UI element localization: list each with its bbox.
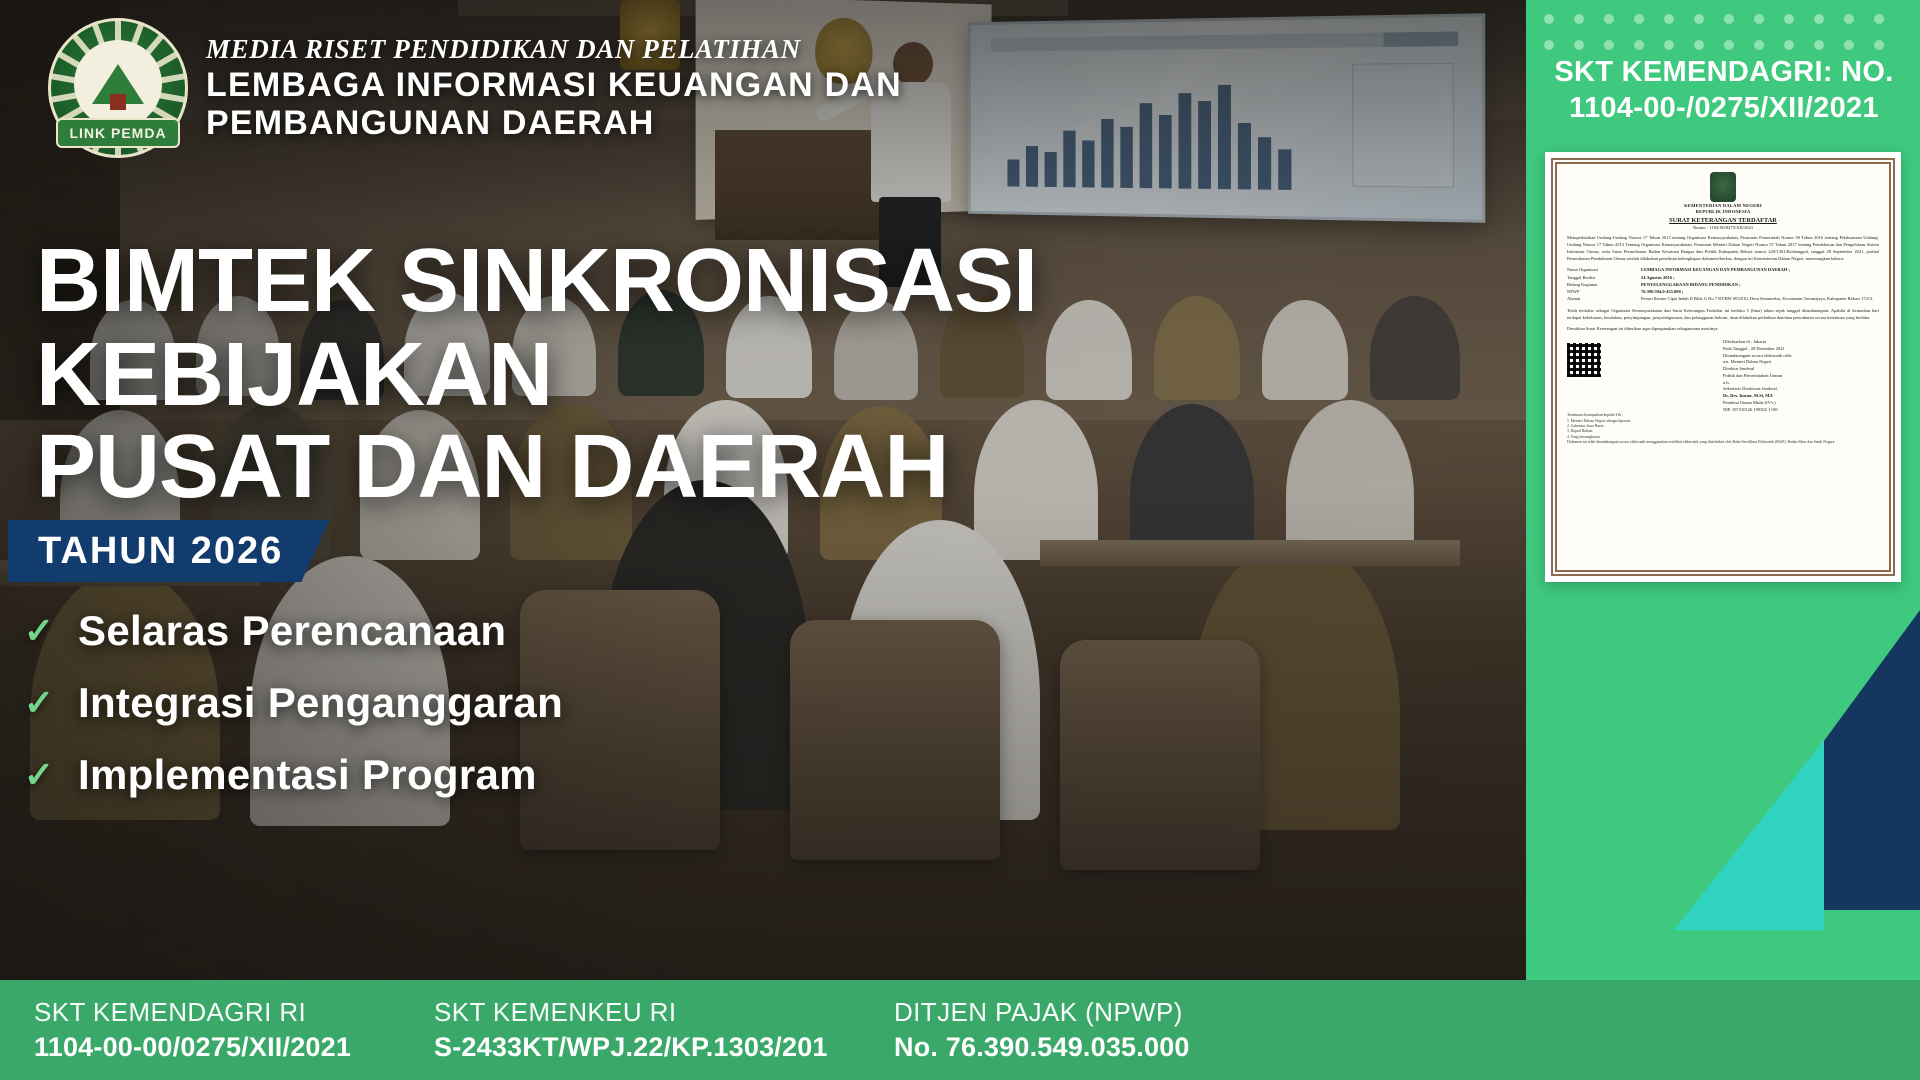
- signature-role-2: Politik dan Pemerintahan Umum: [1723, 373, 1879, 380]
- side-panel-title: SKT KEMENDAGRI: NO. 1104-00-/0275/XII/20…: [1546, 54, 1902, 127]
- organization-logo: LINK PEMDA: [48, 18, 188, 158]
- garuda-emblem-icon: [1710, 172, 1736, 202]
- qr-code: [1567, 343, 1601, 377]
- table-row: Nama Organisasi LEMBAGA INFORMASI KEUANG…: [1567, 267, 1879, 274]
- list-item-label: Implementasi Program: [78, 751, 537, 799]
- check-icon: ✓: [22, 754, 56, 796]
- signature-date-label: Pada Tanggal: [1723, 346, 1747, 351]
- certificate-disclaimer: Dokumen ini telah ditandatangani secara …: [1567, 440, 1879, 445]
- side-panel-title-line2: 1104-00-/0275/XII/2021: [1546, 90, 1902, 126]
- organization-name-block: MEDIA RISET PENDIDIKAN DAN PELATIHAN LEM…: [206, 34, 902, 142]
- poster: LINK PEMDA MEDIA RISET PENDIDIKAN DAN PE…: [0, 0, 1920, 1080]
- signature-role-1: Direktur Jenderal: [1723, 366, 1879, 373]
- check-icon: ✓: [22, 682, 56, 724]
- list-item: ✓ Selaras Perencanaan: [22, 604, 563, 658]
- credential-label: SKT KEMENDAGRI RI: [34, 997, 400, 1028]
- year-badge: TAHUN 2026: [8, 520, 329, 582]
- certificate-number: Nomor : 1104-00/0275/XII/2021: [1567, 225, 1879, 230]
- list-item: ✓ Integrasi Penganggaran: [22, 676, 563, 730]
- signature-place: Dikeluarkan di : Jakarta: [1723, 339, 1879, 346]
- certificate-title: SURAT KETERANGAN TERDAFTAR: [1567, 217, 1879, 224]
- table-row: Alamat Perum Rosine Cipta Indah II Blok …: [1567, 296, 1879, 303]
- headline-line-1: BIMTEK SINKRONISASI: [36, 236, 1116, 328]
- certificate-image: KEMENTERIAN DALAM NEGERI REPUBLIK INDONE…: [1545, 152, 1901, 582]
- credential-value: 1104-00-00/0275/XII/2021: [34, 1032, 400, 1063]
- certificate-footnote: Tembusan disampaikan kepada Yth : 1. Men…: [1567, 413, 1879, 445]
- credential-value: No. 76.390.549.035.000: [894, 1032, 1420, 1063]
- field-key: NPWP: [1567, 289, 1641, 296]
- field-key: Bidang Kegiatan: [1567, 282, 1641, 289]
- signature-name: Dr. Drs. Imran, M.Si, MA: [1723, 393, 1879, 400]
- certificate-ministry-line2: REPUBLIK INDONESIA: [1567, 209, 1879, 215]
- field-key: Nama Organisasi: [1567, 267, 1641, 274]
- signature-role-3: Sekretaris Direktorat Jenderal,: [1723, 386, 1879, 393]
- list-item-label: Integrasi Penganggaran: [78, 679, 563, 727]
- field-value: 24 Agustus 2016 ;: [1641, 275, 1879, 282]
- credential-kemendagri: SKT KEMENDAGRI RI 1104-00-00/0275/XII/20…: [0, 997, 400, 1063]
- side-panel-title-line1: SKT KEMENDAGRI: NO.: [1546, 54, 1902, 90]
- decorative-teal-triangle: [1674, 740, 1824, 930]
- brand-block: LINK PEMDA MEDIA RISET PENDIDIKAN DAN PE…: [48, 18, 902, 158]
- field-key: Tanggal Berdiri: [1567, 275, 1641, 282]
- certificate-fields-table: Nama Organisasi LEMBAGA INFORMASI KEUANG…: [1567, 267, 1879, 302]
- credential-label: SKT KEMENKEU RI: [434, 997, 860, 1028]
- signature-place-label: Dikeluarkan di: [1723, 339, 1750, 344]
- side-panel-bottom-strip: [1526, 980, 1920, 1080]
- credentials-footer: SKT KEMENDAGRI RI 1104-00-00/0275/XII/20…: [0, 980, 1526, 1080]
- poster-headline: BIMTEK SINKRONISASI KEBIJAKAN PUSAT DAN …: [36, 236, 1116, 513]
- table-row: NPWP 76.390.594.0-435.000 ;: [1567, 289, 1879, 296]
- signature-note: Ditandatangani secara elektronik oleh:: [1723, 353, 1879, 360]
- field-key: Alamat: [1567, 296, 1641, 303]
- signature-nip: NIP. 197310126 199302 1 001: [1723, 407, 1879, 414]
- field-value: PENYELENGGARAAN BIDANG PENDIDIKAN ;: [1641, 282, 1879, 289]
- organization-name-line2: PEMBANGUNAN DAERAH: [206, 105, 902, 142]
- benefits-list: ✓ Selaras Perencanaan ✓ Integrasi Pengan…: [22, 604, 563, 820]
- signature-on-behalf: a.n. Menteri Dalam Negeri: [1723, 359, 1879, 366]
- signature-date-value: : 20 Desember 2021: [1748, 346, 1784, 351]
- certificate-frame: KEMENTERIAN DALAM NEGERI REPUBLIK INDONE…: [1551, 158, 1895, 576]
- signature-right-column: Dikeluarkan di : Jakarta Pada Tanggal : …: [1723, 339, 1879, 413]
- signature-ub: u.b.: [1723, 380, 1879, 387]
- logo-inner-disc: [74, 40, 162, 128]
- check-icon: ✓: [22, 610, 56, 652]
- field-value: Perum Rosine Cipta Indah II Blok G No.7 …: [1641, 296, 1879, 303]
- logo-ribbon-label: LINK PEMDA: [56, 118, 180, 148]
- credential-label: DITJEN PAJAK (NPWP): [894, 997, 1420, 1028]
- certificate-paragraph-1: Memperhatikan Undang-Undang Nomor 17 Tah…: [1567, 235, 1879, 262]
- credential-kemenkeu: SKT KEMENKEU RI S-2433KT/WPJ.22/KP.1303/…: [400, 997, 860, 1063]
- field-value: LEMBAGA INFORMASI KEUANGAN DAN PEMBANGUN…: [1641, 267, 1879, 274]
- list-item-label: Selaras Perencanaan: [78, 607, 506, 655]
- signature-left-column: [1567, 339, 1717, 377]
- certificate-paragraph-2: Telah terdaftar sebagai Organisasi Kemas…: [1567, 308, 1879, 322]
- organization-kicker: MEDIA RISET PENDIDIKAN DAN PELATIHAN: [206, 34, 902, 65]
- signature-date: Pada Tanggal : 20 Desember 2021: [1723, 346, 1879, 353]
- decorative-dot-grid: [1544, 14, 1904, 58]
- signature-rank: Pembina Utama Muda (IV/c): [1723, 400, 1879, 407]
- credential-value: S-2433KT/WPJ.22/KP.1303/201: [434, 1032, 860, 1063]
- headline-line-2: KEBIJAKAN: [36, 330, 1116, 422]
- table-row: Bidang Kegiatan PENYELENGGARAAN BIDANG P…: [1567, 282, 1879, 289]
- poster-side-panel: SKT KEMENDAGRI: NO. 1104-00-/0275/XII/20…: [1526, 0, 1920, 1080]
- headline-line-3: PUSAT DAN DAERAH: [36, 422, 1116, 514]
- certificate-paragraph-3: Demikian Surat Keterangan ini diberikan …: [1567, 326, 1879, 333]
- credential-npwp: DITJEN PAJAK (NPWP) No. 76.390.549.035.0…: [860, 997, 1420, 1063]
- organization-name-line1: LEMBAGA INFORMASI KEUANGAN DAN: [206, 67, 902, 104]
- signature-place-value: : Jakarta: [1751, 339, 1766, 344]
- tree-icon: [92, 64, 144, 104]
- poster-main-panel: LINK PEMDA MEDIA RISET PENDIDIKAN DAN PE…: [0, 0, 1526, 1080]
- field-value: 76.390.594.0-435.000 ;: [1641, 289, 1879, 296]
- table-row: Tanggal Berdiri 24 Agustus 2016 ;: [1567, 275, 1879, 282]
- list-item: ✓ Implementasi Program: [22, 748, 563, 802]
